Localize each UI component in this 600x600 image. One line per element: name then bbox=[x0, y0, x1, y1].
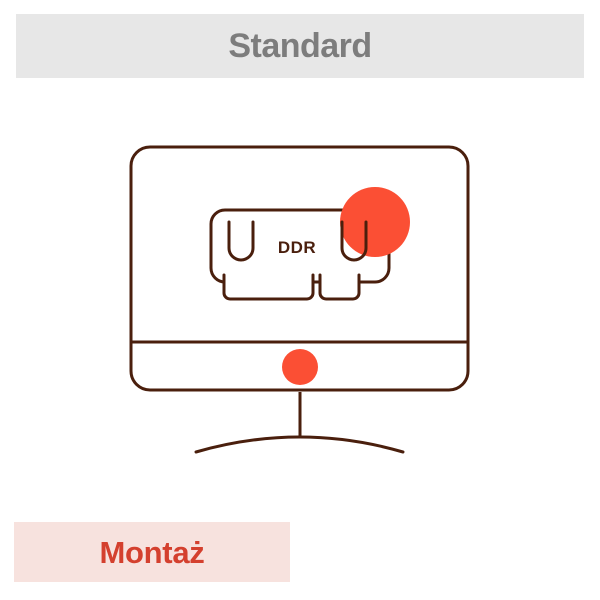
footer-band: Montaż bbox=[14, 522, 290, 582]
accent-circle-large bbox=[340, 187, 410, 257]
ddr-module-label: DDR bbox=[278, 238, 316, 257]
accent-circle-small bbox=[282, 349, 318, 385]
monitor-illustration: DDR bbox=[0, 90, 600, 490]
memory-contact-tab-wide bbox=[224, 275, 313, 299]
page-title: Standard bbox=[228, 29, 371, 63]
page-canvas: Standard DDR bbox=[0, 0, 600, 600]
header-band: Standard bbox=[16, 14, 584, 78]
footer-label: Montaż bbox=[100, 537, 205, 568]
monitor-stand-base-arc bbox=[196, 437, 403, 452]
memory-contact-tab-narrow bbox=[320, 275, 359, 299]
